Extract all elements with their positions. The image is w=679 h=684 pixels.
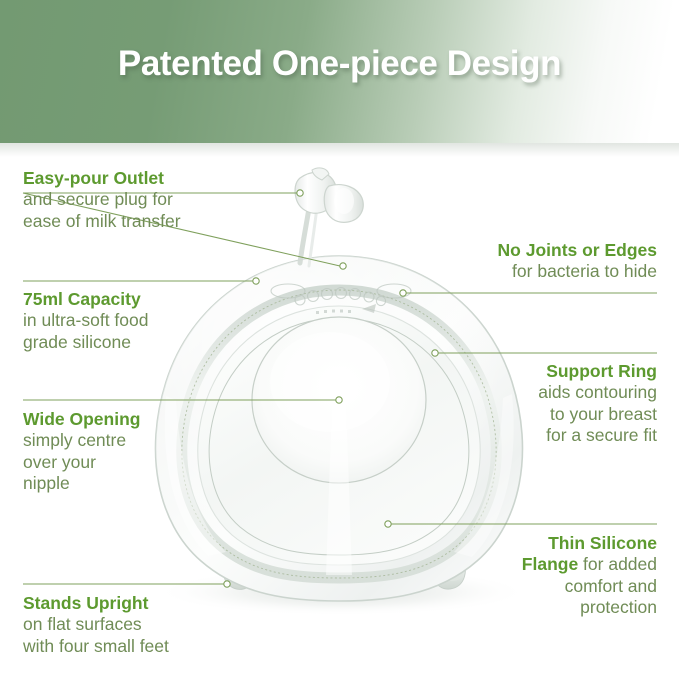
- annotation-body-line: simply centre: [23, 430, 140, 451]
- annotation-thin-silicone-flange: Thin Silicone Flange for added comfort a…: [522, 533, 657, 618]
- annotation-body-line: on flat surfaces: [23, 614, 169, 635]
- annotation-body-inline: for added: [578, 554, 657, 574]
- annotation-capacity: 75ml Capacity in ultra-soft food grade s…: [23, 289, 148, 353]
- annotation-stands-upright: Stands Upright on flat surfaces with fou…: [23, 593, 169, 657]
- leader-dot-capacity: [253, 278, 259, 284]
- annotation-heading: Thin Silicone: [522, 533, 657, 554]
- annotation-heading-continuation: Flange for added: [522, 554, 657, 575]
- annotation-body-line: to your breast: [538, 404, 657, 425]
- annotation-body-line: for a secure fit: [538, 425, 657, 446]
- annotation-body-line: grade silicone: [23, 332, 148, 353]
- annotation-heading: Stands Upright: [23, 593, 169, 614]
- annotation-body-line: nipple: [23, 473, 140, 494]
- leader-dot-support-ring: [432, 350, 438, 356]
- annotation-heading: 75ml Capacity: [23, 289, 148, 310]
- annotation-body-line: ease of milk transfer: [23, 211, 181, 232]
- annotation-body-line: protection: [522, 597, 657, 618]
- annotation-body-line: aids contouring: [538, 382, 657, 403]
- annotation-heading-word: Flange: [522, 554, 578, 574]
- annotation-body-line: and secure plug for: [23, 189, 181, 210]
- leader-dot-wide-opening: [336, 397, 342, 403]
- annotation-heading: Support Ring: [538, 361, 657, 382]
- annotation-easy-pour-outlet: Easy-pour Outlet and secure plug for eas…: [23, 168, 181, 232]
- annotation-heading: Wide Opening: [23, 409, 140, 430]
- annotation-heading: Easy-pour Outlet: [23, 168, 181, 189]
- annotation-body-line: comfort and: [522, 576, 657, 597]
- annotation-body-line: for bacteria to hide: [498, 261, 657, 282]
- annotation-body-line: with four small feet: [23, 636, 169, 657]
- annotation-heading: No Joints or Edges: [498, 240, 657, 261]
- leader-dot-easy-pour-a: [297, 190, 303, 196]
- leader-dot-no-joints: [400, 290, 406, 296]
- leader-dot-stands-upright: [224, 581, 230, 587]
- leader-dot-easy-pour-b: [340, 263, 346, 269]
- annotation-wide-opening: Wide Opening simply centre over your nip…: [23, 409, 140, 494]
- leader-dot-thin-flange: [385, 521, 391, 527]
- annotation-no-joints-or-edges: No Joints or Edges for bacteria to hide: [498, 240, 657, 283]
- annotation-body-line: in ultra-soft food: [23, 310, 148, 331]
- annotation-support-ring: Support Ring aids contouring to your bre…: [538, 361, 657, 446]
- annotation-body-line: over your: [23, 452, 140, 473]
